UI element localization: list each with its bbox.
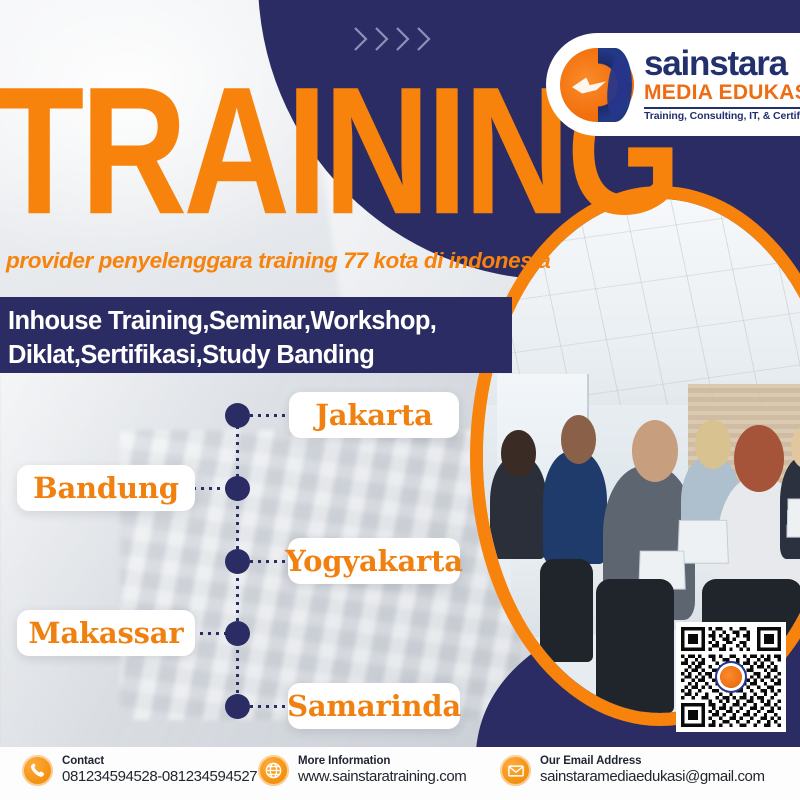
footer-email[interactable]: Our Email Address sainstaramediaedukasi@… [500, 755, 765, 786]
globe-icon [258, 755, 289, 786]
services-band: Inhouse Training,Seminar,Workshop, Dikla… [0, 297, 512, 373]
brand-logo: sainstara MEDIA EDUKASI Training, Consul… [546, 33, 800, 136]
timeline-node [225, 476, 250, 501]
logo-divider [644, 107, 800, 109]
footer-value: www.sainstaratraining.com [298, 768, 466, 785]
phone-icon [22, 755, 53, 786]
city-label: Bandung [33, 471, 179, 505]
city-label: Jakarta [315, 398, 432, 432]
timeline-connector [250, 414, 292, 417]
footer-label: More Information [298, 755, 466, 768]
sainstara-logo-mark-icon [720, 666, 742, 688]
timeline-node [225, 694, 250, 719]
timeline-node [225, 621, 250, 646]
footer-contact-phone[interactable]: Contact 081234594528-081234594527 [22, 755, 257, 786]
list-item[interactable]: Yogyakarta [288, 538, 460, 584]
list-item[interactable]: Samarinda [288, 683, 460, 729]
footer-value: 081234594528-081234594527 [62, 768, 257, 785]
logo-subtitle: MEDIA EDUKASI [644, 81, 800, 105]
timeline-connector [250, 560, 290, 563]
footer-value: sainstaramediaedukasi@gmail.com [540, 768, 765, 785]
footer-label: Our Email Address [540, 755, 765, 768]
services-line-1: Inhouse Training,Seminar,Workshop, [8, 305, 502, 339]
list-item[interactable]: Bandung [17, 465, 195, 511]
city-label: Yogyakarta [285, 544, 463, 578]
poster-canvas: sainstara MEDIA EDUKASI Training, Consul… [0, 0, 800, 800]
timeline-node [225, 403, 250, 428]
city-label: Makassar [29, 616, 184, 650]
city-label: Samarinda [287, 689, 461, 723]
envelope-icon [500, 755, 531, 786]
poster-tagline: provider penyelenggara training 77 kota … [6, 248, 550, 274]
logo-wordmark: sainstara [644, 47, 800, 80]
list-item[interactable]: Makassar [17, 610, 195, 656]
sainstara-flame-bird-logo-icon [560, 48, 634, 122]
logo-tagline: Training, Consulting, IT, & Certificatio… [644, 110, 800, 122]
timeline-connector [250, 705, 290, 708]
list-item[interactable]: Jakarta [289, 392, 459, 438]
footer-website[interactable]: More Information www.sainstaratraining.c… [258, 755, 466, 786]
services-line-2: Diklat,Sertifikasi,Study Banding [8, 339, 502, 373]
qr-code[interactable] [676, 622, 786, 732]
timeline-node [225, 549, 250, 574]
footer-label: Contact [62, 755, 257, 768]
